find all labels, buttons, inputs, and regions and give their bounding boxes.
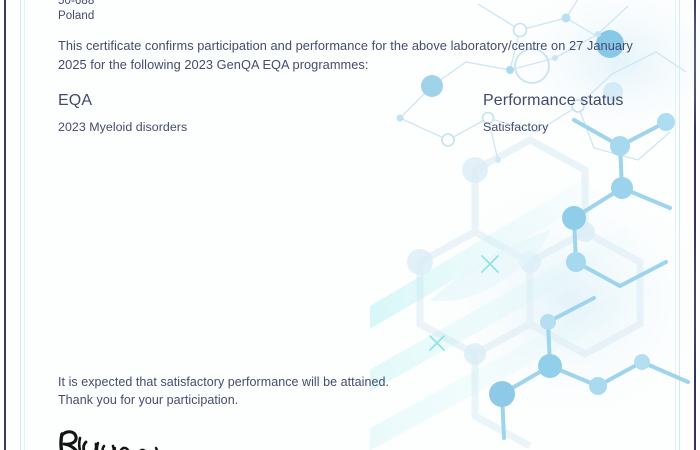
- eqa-column: EQA 2023 Myeloid disorders: [58, 90, 187, 136]
- border-rule-navy-left: [4, 0, 6, 450]
- certificate-body: 50-688 Poland This certificate confirms …: [58, 0, 670, 450]
- eqa-column-header: EQA: [58, 90, 187, 112]
- performance-status-value: Satisfactory: [483, 119, 624, 136]
- laboratory-address-block: 50-688 Poland: [58, 0, 94, 24]
- border-rule-cyan-right-inner: [675, 0, 676, 450]
- programme-results-table: EQA 2023 Myeloid disorders Performance s…: [58, 90, 670, 140]
- border-rule-cyan-left-inner: [24, 0, 25, 450]
- closing-line-expectation: It is expected that satisfactory perform…: [58, 373, 389, 391]
- border-rule-cyan-left-outer: [20, 0, 21, 450]
- confirmation-paragraph: This certificate confirms participation …: [58, 36, 648, 74]
- closing-line-thanks: Thank you for your participation.: [58, 391, 389, 409]
- address-postcode: 50-688: [58, 0, 94, 9]
- performance-status-column-header: Performance status: [483, 90, 624, 112]
- address-country: Poland: [58, 9, 94, 24]
- border-rule-navy-right: [694, 0, 696, 450]
- border-rule-cyan-right-outer: [679, 0, 680, 450]
- certificate-page: 50-688 Poland This certificate confirms …: [0, 0, 700, 450]
- closing-remarks: It is expected that satisfactory perform…: [58, 373, 389, 409]
- performance-status-column: Performance status Satisfactory: [483, 90, 624, 136]
- eqa-programme-name: 2023 Myeloid disorders: [58, 119, 187, 136]
